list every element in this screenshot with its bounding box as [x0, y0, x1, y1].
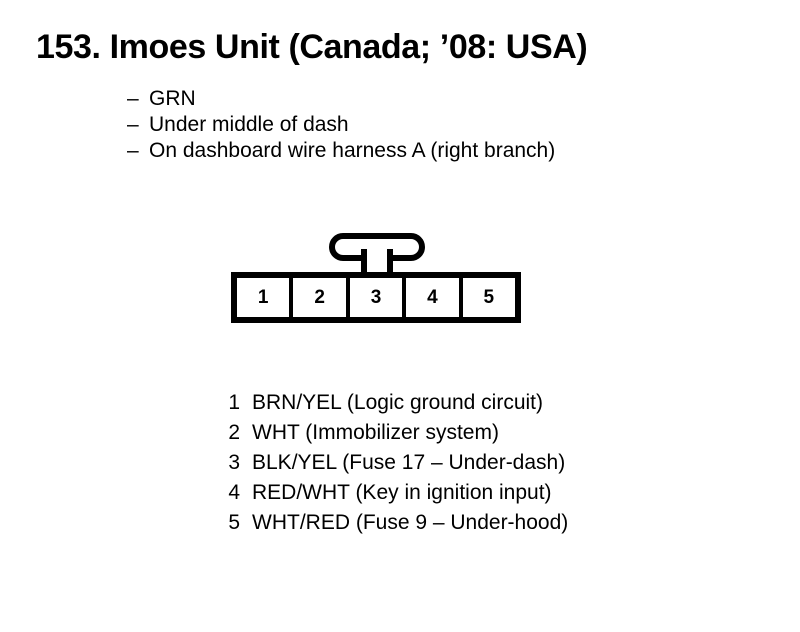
- spec-list-item-label: On dashboard wire harness A (right branc…: [149, 138, 555, 164]
- connector-diagram: 1 2 3 4 5: [231, 233, 521, 323]
- spec-list-item: – GRN: [127, 86, 555, 112]
- dash-bullet-icon: –: [127, 138, 149, 164]
- legend-pin-number: 5: [222, 508, 240, 538]
- legend-pin-number: 2: [222, 418, 240, 448]
- spec-list-item: – On dashboard wire harness A (right bra…: [127, 138, 555, 164]
- connector-reference-page: { "page": { "title": "153. Imoes Unit (C…: [0, 0, 800, 632]
- legend-pin-description: RED/WHT (Key in ignition input): [252, 478, 552, 508]
- legend-row: 2 WHT (Immobilizer system): [222, 418, 568, 448]
- legend-pin-number: 1: [222, 388, 240, 418]
- pin-cell: 3: [350, 278, 402, 317]
- spec-list-item-label: GRN: [149, 86, 196, 112]
- legend-pin-description: WHT/RED (Fuse 9 – Under-hood): [252, 508, 568, 538]
- spec-list: – GRN – Under middle of dash – On dashbo…: [127, 86, 555, 164]
- pin-cell: 4: [406, 278, 458, 317]
- legend-pin-description: WHT (Immobilizer system): [252, 418, 499, 448]
- connector-pin-body: 1 2 3 4 5: [231, 272, 521, 323]
- latch-neck-cover-shape: [367, 245, 387, 257]
- spec-list-item-label: Under middle of dash: [149, 112, 349, 138]
- pin-cell: 1: [237, 278, 289, 317]
- legend-pin-description: BLK/YEL (Fuse 17 – Under-dash): [252, 448, 565, 478]
- legend-row: 4 RED/WHT (Key in ignition input): [222, 478, 568, 508]
- pin-cell: 5: [463, 278, 515, 317]
- legend-row: 1 BRN/YEL (Logic ground circuit): [222, 388, 568, 418]
- pin-legend: 1 BRN/YEL (Logic ground circuit) 2 WHT (…: [222, 388, 568, 538]
- legend-row: 5 WHT/RED (Fuse 9 – Under-hood): [222, 508, 568, 538]
- legend-pin-number: 4: [222, 478, 240, 508]
- dash-bullet-icon: –: [127, 86, 149, 112]
- dash-bullet-icon: –: [127, 112, 149, 138]
- legend-pin-number: 3: [222, 448, 240, 478]
- legend-row: 3 BLK/YEL (Fuse 17 – Under-dash): [222, 448, 568, 478]
- spec-list-item: – Under middle of dash: [127, 112, 555, 138]
- latch-tab-icon: [329, 233, 425, 273]
- legend-pin-description: BRN/YEL (Logic ground circuit): [252, 388, 543, 418]
- pin-cell: 2: [293, 278, 345, 317]
- page-title: 153. Imoes Unit (Canada; ’08: USA): [36, 30, 587, 64]
